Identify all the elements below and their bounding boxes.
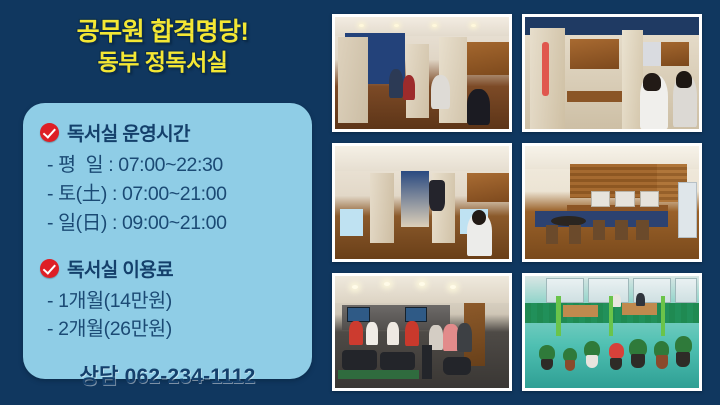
photo-study-desk-cubicle-with-lockers: study-desk-cubicle-with-lockers	[522, 14, 702, 132]
headline-line-1: 공무원 합격명당!	[0, 18, 325, 47]
photo-grid: study-room-cubicles-corridor study-desk-…	[332, 14, 702, 391]
fee-row-two-month: - 2개월(26만원)	[47, 315, 312, 344]
photo-fitness-gym-treadmills: fitness-gym-treadmills	[332, 273, 512, 391]
photo-rooftop-garden-terrace: rooftop-garden-terrace	[522, 273, 702, 391]
photo-hallway-between-study-rooms: hallway-between-study-rooms	[332, 143, 512, 261]
hours-row-sunday: - 일(日) : 09:00~21:00	[47, 209, 312, 238]
check-circle-icon	[40, 123, 59, 142]
hours-row-saturday: - 토(土) : 07:00~21:00	[47, 180, 312, 209]
section-title-hours: 독서실 운영시간	[67, 119, 190, 146]
section-header-fees: 독서실 이용료	[23, 255, 312, 282]
photo-lounge-cafeteria-area: lounge-cafeteria-area	[522, 143, 702, 261]
info-panel: 독서실 운영시간 - 평 일 : 07:00~22:30 - 토(土) : 07…	[23, 103, 312, 379]
check-circle-icon	[40, 259, 59, 278]
left-column: 공무원 합격명당! 동부 정독서실 독서실 운영시간 - 평 일 : 07:00…	[0, 0, 325, 405]
photo-study-room-cubicles-corridor: study-room-cubicles-corridor	[332, 14, 512, 132]
fee-row-one-month: - 1개월(14만원)	[47, 287, 312, 316]
hours-list: - 평 일 : 07:00~22:30 - 토(土) : 07:00~21:00…	[23, 151, 312, 238]
contact-phone-number[interactable]: 상담 062-234-1112	[23, 360, 312, 390]
page-title: 공무원 합격명당! 동부 정독서실	[0, 18, 325, 75]
fees-list: - 1개월(14만원) - 2개월(26만원)	[23, 287, 312, 345]
poster-root: 공무원 합격명당! 동부 정독서실 독서실 운영시간 - 평 일 : 07:00…	[0, 0, 720, 405]
section-title-fees: 독서실 이용료	[67, 255, 173, 282]
hours-row-weekday: - 평 일 : 07:00~22:30	[47, 151, 312, 180]
headline-line-2: 동부 정독서실	[0, 49, 325, 75]
section-header-hours: 독서실 운영시간	[23, 119, 312, 146]
